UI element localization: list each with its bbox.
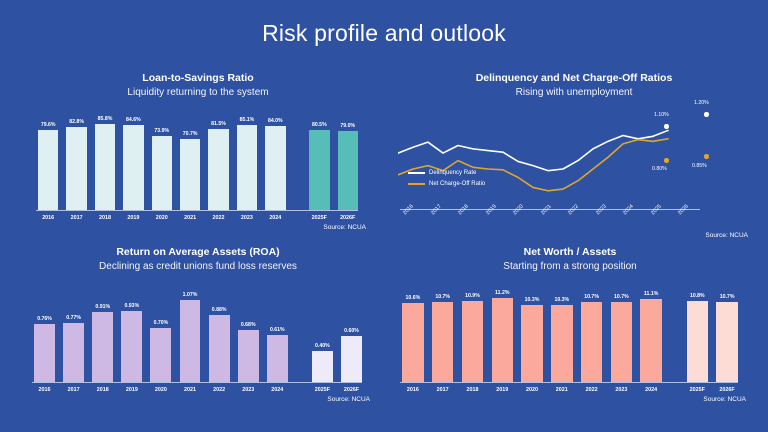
bar-category-label: 2024 bbox=[645, 387, 657, 393]
bar-value-label: 1.07% bbox=[183, 292, 198, 298]
panel-subtitle: Declining as credit unions fund loss res… bbox=[24, 261, 372, 274]
legend-item-delinquency: Delinquency Rate bbox=[408, 170, 485, 176]
bar-value-label: 10.8% bbox=[690, 293, 705, 299]
bar-item[interactable]: 0.77%2017 bbox=[59, 280, 88, 382]
bar-item[interactable]: 10.3%2020 bbox=[517, 280, 547, 382]
bar-rect[interactable] bbox=[402, 303, 423, 382]
bar-rect[interactable] bbox=[34, 324, 55, 382]
bar-category-label: 2020 bbox=[156, 215, 168, 221]
bar-value-label: 82.8% bbox=[69, 119, 84, 125]
chart-net-worth: 10.6%201610.7%201710.9%201811.2%201910.3… bbox=[398, 280, 742, 382]
chart-legend: Delinquency Rate Net Charge-Off Ratio bbox=[408, 170, 485, 192]
legend-label: Net Charge-Off Ratio bbox=[429, 181, 485, 187]
bar-rect[interactable] bbox=[121, 311, 142, 382]
bar-item[interactable]: 10.8%2025F bbox=[682, 280, 712, 382]
bar-rect[interactable] bbox=[265, 126, 285, 210]
panel-header: Delinquency and Net Charge-Off Ratios Ri… bbox=[396, 72, 752, 100]
bar-category-label: 2016 bbox=[407, 387, 419, 393]
bar-rect[interactable] bbox=[611, 302, 632, 382]
panel-header: Loan-to-Savings Ratio Liquidity returnin… bbox=[28, 72, 368, 100]
bar-item[interactable]: 10.7%2023 bbox=[606, 280, 636, 382]
panel-title: Loan-to-Savings Ratio bbox=[28, 72, 368, 85]
bar-item[interactable]: 10.6%2016 bbox=[398, 280, 428, 382]
bar-rect[interactable] bbox=[462, 301, 483, 382]
legend-item-net-charge-off: Net Charge-Off Ratio bbox=[408, 181, 485, 187]
bar-rect[interactable] bbox=[267, 335, 288, 382]
bar-item[interactable]: 84.6%2019 bbox=[119, 106, 147, 210]
bar-rect[interactable] bbox=[432, 302, 453, 382]
bar-category-label: 2025F bbox=[315, 387, 330, 393]
bar-value-label: 0.68% bbox=[241, 322, 256, 328]
bar-category-label: 2019 bbox=[126, 387, 138, 393]
panel-title: Net Worth / Assets bbox=[392, 246, 748, 259]
bar-item[interactable]: 11.1%2024 bbox=[636, 280, 666, 382]
bar-item[interactable]: 10.7%2026F bbox=[712, 280, 742, 382]
bar-item[interactable]: 0.40%2025F bbox=[308, 280, 337, 382]
bar-value-label: 10.7% bbox=[584, 294, 599, 300]
forecast-dot-label: 1.10% bbox=[654, 112, 669, 118]
panel-title: Return on Average Assets (ROA) bbox=[24, 246, 372, 259]
bar-category-label: 2026F bbox=[719, 387, 734, 393]
chart-roa: 0.76%20160.77%20170.91%20180.93%20190.70… bbox=[30, 280, 366, 382]
bar-category-label: 2016 bbox=[42, 215, 54, 221]
bar-item[interactable]: 0.91%2018 bbox=[88, 280, 117, 382]
bar-rect[interactable] bbox=[92, 312, 113, 382]
panel-title: Delinquency and Net Charge-Off Ratios bbox=[396, 72, 752, 85]
bar-rect[interactable] bbox=[551, 305, 572, 382]
panel-header: Return on Average Assets (ROA) Declining… bbox=[24, 246, 372, 274]
bar-category-label: 2023 bbox=[615, 387, 627, 393]
bar-rect[interactable] bbox=[237, 125, 257, 210]
bar-item[interactable]: 10.7%2017 bbox=[428, 280, 458, 382]
bar-value-label: 79.6% bbox=[41, 122, 56, 128]
bar-rect[interactable] bbox=[95, 124, 115, 210]
panel-header: Net Worth / Assets Starting from a stron… bbox=[392, 246, 748, 274]
bar-rect[interactable] bbox=[341, 336, 362, 382]
bar-item[interactable]: 0.61%2024 bbox=[263, 280, 292, 382]
bar-item[interactable]: 73.9%2020 bbox=[148, 106, 176, 210]
bar-rect[interactable] bbox=[312, 351, 333, 382]
bar-rect[interactable] bbox=[152, 136, 172, 210]
legend-swatch-delinquency bbox=[408, 172, 425, 174]
bar-category-label: 2022 bbox=[586, 387, 598, 393]
bar-rect[interactable] bbox=[180, 139, 200, 210]
bar-item[interactable]: 82.8%2017 bbox=[62, 106, 90, 210]
source-note: Source: NCUA bbox=[705, 232, 748, 239]
bar-rect[interactable] bbox=[238, 330, 259, 382]
bar-category-label: 2017 bbox=[68, 387, 80, 393]
bar-value-label: 70.7% bbox=[183, 131, 198, 137]
bar-item[interactable]: 85.1%2023 bbox=[233, 106, 261, 210]
bar-item[interactable]: 79.0%2026F bbox=[334, 106, 362, 210]
bar-category-label: 2024 bbox=[271, 387, 283, 393]
bar-value-label: 0.88% bbox=[212, 307, 227, 313]
forecast-dot-label: 1.20% bbox=[694, 100, 709, 106]
bar-rect[interactable] bbox=[38, 130, 58, 210]
bar-category-label: 2026F bbox=[344, 387, 359, 393]
bar-value-label: 10.7% bbox=[435, 294, 450, 300]
bar-rect[interactable] bbox=[687, 301, 708, 382]
bar-category-label: 2018 bbox=[97, 387, 109, 393]
bar-value-label: 10.3% bbox=[525, 297, 540, 303]
page-title: Risk profile and outlook bbox=[0, 20, 768, 47]
bar-value-label: 10.9% bbox=[465, 293, 480, 299]
bar-category-label: 2024 bbox=[269, 215, 281, 221]
bar-item[interactable]: 0.70%2020 bbox=[146, 280, 175, 382]
forecast-dot-label: 0.85% bbox=[692, 163, 707, 169]
bar-category-label: 2018 bbox=[99, 215, 111, 221]
forecast-dot[interactable] bbox=[704, 112, 709, 117]
bar-item[interactable]: 0.93%2019 bbox=[117, 280, 146, 382]
x-tick-label: 2017 bbox=[430, 204, 443, 217]
bar-rect[interactable] bbox=[208, 129, 228, 211]
panel-net-worth: Net Worth / Assets Starting from a stron… bbox=[392, 246, 748, 411]
bar-item[interactable]: 0.88%2022 bbox=[205, 280, 234, 382]
bar-category-label: 2019 bbox=[127, 215, 139, 221]
bar-category-label: 2021 bbox=[556, 387, 568, 393]
panel-subtitle: Rising with unemployment bbox=[396, 87, 752, 100]
bar-rect[interactable] bbox=[150, 328, 171, 382]
bar-category-label: 2023 bbox=[242, 387, 254, 393]
bar-value-label: 11.2% bbox=[495, 290, 509, 296]
panel-loan-to-savings: Loan-to-Savings Ratio Liquidity returnin… bbox=[28, 72, 368, 232]
bar-rect[interactable] bbox=[66, 127, 86, 210]
panel-subtitle: Starting from a strong position bbox=[392, 261, 748, 274]
bar-item[interactable]: 0.60%2026F bbox=[337, 280, 366, 382]
bar-rect[interactable] bbox=[716, 302, 737, 382]
bar-item[interactable]: 80.5%2025F bbox=[305, 106, 333, 210]
bar-item[interactable]: 79.6%2016 bbox=[34, 106, 62, 210]
line-series bbox=[398, 130, 668, 170]
bar-value-label: 0.76% bbox=[37, 316, 52, 322]
bar-category-label: 2016 bbox=[39, 387, 51, 393]
bar-rect[interactable] bbox=[492, 298, 513, 382]
bar-item[interactable]: 85.8%2018 bbox=[91, 106, 119, 210]
bar-value-label: 10.3% bbox=[554, 297, 569, 303]
bar-rect[interactable] bbox=[309, 130, 329, 211]
bar-value-label: 0.60% bbox=[344, 328, 359, 334]
bar-category-label: 2017 bbox=[71, 215, 83, 221]
bar-value-label: 79.0% bbox=[340, 123, 355, 129]
bar-value-label: 0.61% bbox=[270, 327, 285, 333]
bar-category-label: 2025F bbox=[312, 215, 327, 221]
bar-value-label: 0.91% bbox=[95, 304, 110, 310]
bar-rect[interactable] bbox=[521, 305, 542, 382]
bar-rect[interactable] bbox=[209, 315, 230, 382]
bar-value-label: 73.9% bbox=[154, 128, 169, 134]
bar-category-label: 2021 bbox=[184, 387, 196, 393]
bar-item[interactable]: 11.2%2019 bbox=[487, 280, 517, 382]
bar-category-label: 2023 bbox=[241, 215, 253, 221]
bar-item[interactable]: 0.68%2023 bbox=[234, 280, 263, 382]
bar-category-label: 2020 bbox=[155, 387, 167, 393]
forecast-dot[interactable] bbox=[664, 124, 669, 129]
x-tick-label: 2023 bbox=[595, 204, 608, 217]
panel-roa: Return on Average Assets (ROA) Declining… bbox=[24, 246, 372, 411]
bar-category-label: 2026F bbox=[340, 215, 355, 221]
bar-value-label: 10.6% bbox=[406, 295, 421, 301]
forecast-dot[interactable] bbox=[704, 154, 709, 159]
bar-value-label: 84.6% bbox=[126, 117, 141, 123]
bar-item[interactable]: 10.3%2021 bbox=[547, 280, 577, 382]
bar-value-label: 11.1% bbox=[644, 291, 658, 297]
bar-rect[interactable] bbox=[581, 302, 602, 382]
source-note: Source: NCUA bbox=[703, 396, 746, 403]
bar-category-label: 2021 bbox=[184, 215, 196, 221]
chart-loan-to-savings: 79.6%201682.8%201785.8%201884.6%201973.9… bbox=[34, 106, 362, 210]
bar-category-label: 2020 bbox=[526, 387, 538, 393]
x-tick-label: 2021 bbox=[540, 204, 553, 217]
x-tick-label: 2025 bbox=[650, 204, 663, 217]
bar-category-label: 2022 bbox=[213, 215, 225, 221]
bar-value-label: 0.93% bbox=[124, 303, 139, 309]
bar-value-label: 80.5% bbox=[312, 122, 327, 128]
bar-value-label: 84.0% bbox=[268, 118, 283, 124]
source-note: Source: NCUA bbox=[323, 224, 366, 231]
bar-rect[interactable] bbox=[338, 131, 358, 210]
forecast-dot-label: 0.80% bbox=[652, 166, 667, 172]
bar-value-label: 85.1% bbox=[240, 117, 255, 123]
x-axis-line bbox=[36, 210, 358, 211]
bar-category-label: 2025F bbox=[690, 387, 705, 393]
bar-category-label: 2019 bbox=[496, 387, 508, 393]
forecast-dot[interactable] bbox=[664, 158, 669, 163]
legend-label: Delinquency Rate bbox=[429, 170, 476, 176]
bar-value-label: 10.7% bbox=[720, 294, 735, 300]
x-axis-line bbox=[400, 382, 738, 383]
bar-rect[interactable] bbox=[123, 125, 143, 210]
bar-series: 79.6%201682.8%201785.8%201884.6%201973.9… bbox=[34, 106, 362, 210]
bar-category-label: 2022 bbox=[213, 387, 225, 393]
panel-subtitle: Liquidity returning to the system bbox=[28, 87, 368, 100]
bar-item[interactable]: 84.0%2024 bbox=[261, 106, 289, 210]
bar-rect[interactable] bbox=[640, 299, 661, 382]
bar-rect[interactable] bbox=[63, 323, 84, 382]
bar-item[interactable]: 81.5%2022 bbox=[204, 106, 232, 210]
panel-delinquency: Delinquency and Net Charge-Off Ratios Ri… bbox=[396, 72, 752, 237]
source-note: Source: NCUA bbox=[327, 396, 370, 403]
slide-root: Risk profile and outlook Loan-to-Savings… bbox=[0, 0, 768, 432]
bar-value-label: 81.5% bbox=[211, 121, 226, 127]
bar-rect[interactable] bbox=[180, 300, 201, 382]
bar-value-label: 85.8% bbox=[98, 116, 113, 122]
bar-value-label: 0.77% bbox=[66, 315, 81, 321]
bar-item[interactable]: 1.07%2021 bbox=[175, 280, 204, 382]
bar-item[interactable]: 0.76%2016 bbox=[30, 280, 59, 382]
bar-series: 10.6%201610.7%201710.9%201811.2%201910.3… bbox=[398, 280, 742, 382]
bar-item[interactable]: 10.9%2018 bbox=[458, 280, 488, 382]
bar-value-label: 0.40% bbox=[315, 343, 330, 349]
bar-category-label: 2017 bbox=[437, 387, 449, 393]
bar-item[interactable]: 10.7%2022 bbox=[577, 280, 607, 382]
legend-swatch-net-charge-off bbox=[408, 183, 425, 185]
x-tick-label: 2019 bbox=[485, 204, 498, 217]
bar-series: 0.76%20160.77%20170.91%20180.93%20190.70… bbox=[30, 280, 366, 382]
bar-value-label: 0.70% bbox=[154, 320, 169, 326]
bar-value-label: 10.7% bbox=[614, 294, 629, 300]
bar-category-label: 2018 bbox=[466, 387, 478, 393]
x-axis-line bbox=[32, 382, 362, 383]
bar-item[interactable]: 70.7%2021 bbox=[176, 106, 204, 210]
